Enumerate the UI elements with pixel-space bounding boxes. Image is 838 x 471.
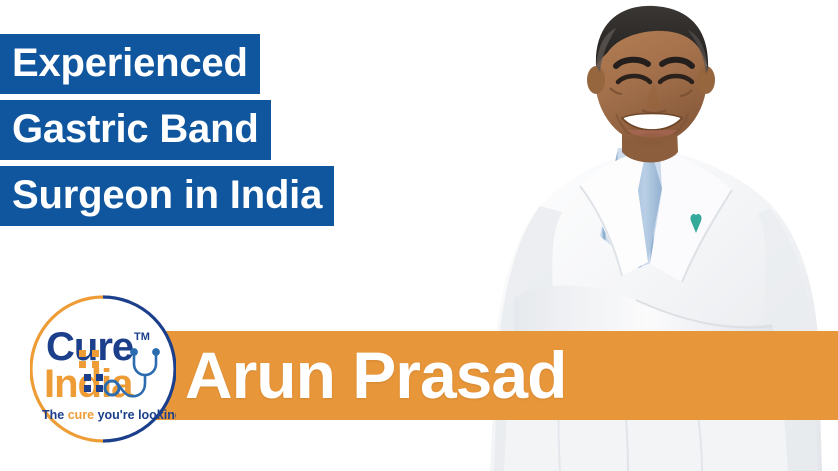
tagline-part-1: The [42, 408, 68, 422]
logo-tagline: The cure you're looking for [42, 408, 176, 422]
logo-dot-blue-3 [96, 374, 103, 381]
logo-dot-blue-2 [84, 385, 91, 392]
promo-banner: Experienced Gastric Band Surgeon in Indi… [0, 0, 838, 471]
logo-trademark: TM [134, 331, 150, 343]
headline-block: Experienced Gastric Band Surgeon in Indi… [0, 34, 334, 226]
headline-line-3: Surgeon in India [0, 166, 334, 226]
headline-line-2: Gastric Band [0, 100, 271, 160]
logo-india-text: India [44, 362, 134, 406]
cure-india-logo[interactable]: Cure TM India [30, 288, 176, 454]
headline-line-1: Experienced [0, 34, 260, 94]
tagline-part-2: you're looking for [94, 408, 176, 422]
tagline-highlight: cure [68, 408, 94, 422]
logo-svg: Cure TM India [30, 288, 176, 454]
logo-dot-blue-1 [84, 374, 91, 381]
logo-dot-orange-3 [92, 350, 99, 357]
logo-dot-blue-4 [96, 385, 103, 392]
logo-dot-orange-1 [79, 350, 86, 357]
doctor-name: Dr. Arun Prasad [85, 331, 838, 420]
